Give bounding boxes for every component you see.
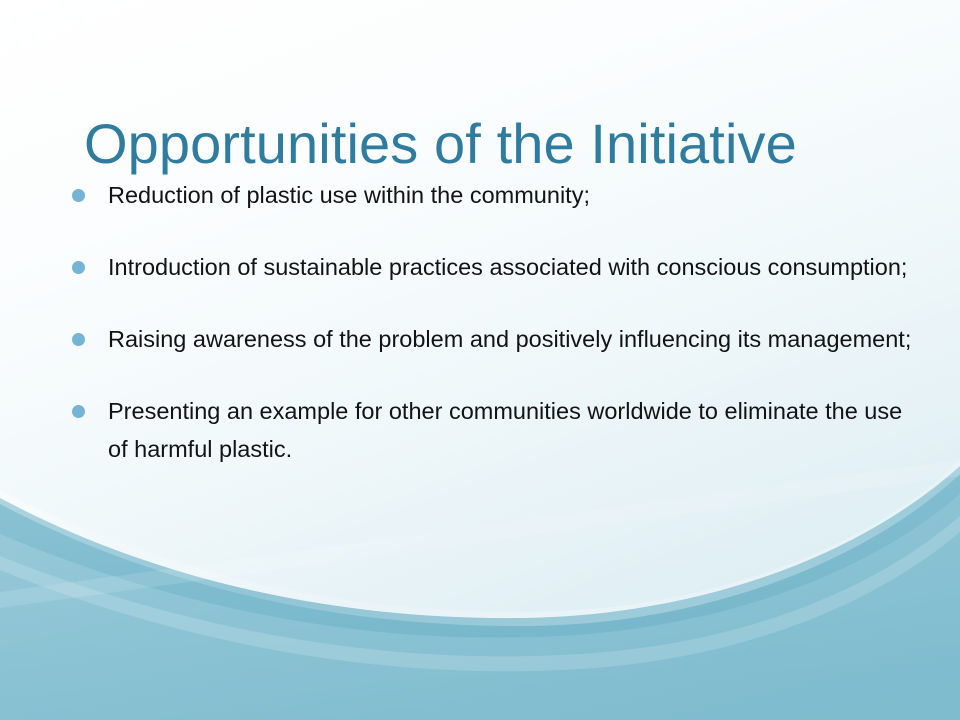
bullet-item: Reduction of plastic use within the comm… <box>64 176 926 214</box>
bullet-text: Presenting an example for other communit… <box>108 392 926 468</box>
bullet-dot-icon <box>72 261 85 274</box>
bullet-dot-icon <box>72 333 85 346</box>
wave-highlight-lower <box>0 516 960 671</box>
wave-diagonal-streak <box>0 460 960 608</box>
bullet-item: Introduction of sustainable practices as… <box>64 248 926 286</box>
slide-title: Opportunities of the Initiative <box>84 114 884 174</box>
bullet-dot-icon <box>72 189 85 202</box>
bottom-wave-decoration <box>0 460 960 720</box>
slide-canvas: Opportunities of the Initiative Reductio… <box>0 0 960 720</box>
wave-band-primary <box>0 466 960 720</box>
bullet-text: Introduction of sustainable practices as… <box>108 248 926 286</box>
bullet-text: Reduction of plastic use within the comm… <box>108 176 926 214</box>
wave-band-secondary <box>0 494 960 720</box>
wave-highlight-upper <box>0 460 960 626</box>
bullet-dot-icon <box>72 405 85 418</box>
bullet-item: Presenting an example for other communit… <box>64 392 926 468</box>
bullet-text: Raising awareness of the problem and pos… <box>108 320 926 358</box>
bullet-list: Reduction of plastic use within the comm… <box>64 176 926 468</box>
bullet-item: Raising awareness of the problem and pos… <box>64 320 926 358</box>
